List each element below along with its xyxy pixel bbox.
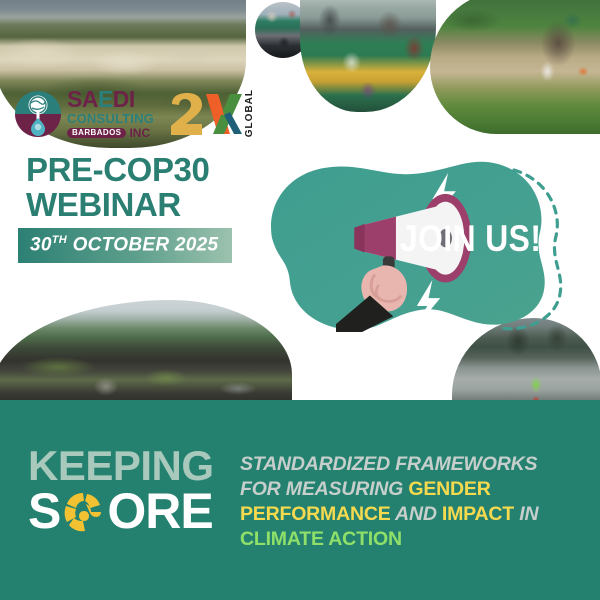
twox-mark-icon [168, 92, 242, 136]
score-letter-s: S [28, 488, 60, 536]
subtitle-plain-1: STANDARDIZED FRAMEWORKS FOR MEASURING [240, 453, 537, 500]
poster-canvas: JOIN US! SAEDI CONSULTING BARBADOS IN [0, 0, 600, 600]
saedi-consulting-label: CONSULTING [67, 112, 154, 125]
workshop-classroom-image [300, 0, 436, 112]
saedi-barbados-badge: BARBADOS [67, 128, 126, 138]
farmer-harvest-image [430, 0, 600, 134]
subtitle-plain-2: AND [391, 503, 442, 525]
volcanic-landscape-image [0, 300, 292, 408]
saedi-wordmark: SAEDI CONSULTING BARBADOS INC [67, 88, 154, 139]
lightning-bolt-icon [414, 280, 440, 330]
subtitle-text: STANDARDIZED FRAMEWORKS FOR MEASURING GE… [240, 452, 580, 552]
date-label: 30TH OCTOBER 2025 [30, 234, 218, 256]
score-pinwheel-c-icon [60, 489, 106, 535]
headline-line-1: PRE-COP30 [26, 152, 209, 187]
join-us-blob: JOIN US! [262, 160, 582, 332]
volcanic-landscape-photo [0, 300, 292, 408]
saedi-globe-droplet-icon [14, 90, 62, 138]
farmer-harvest-photo [430, 0, 600, 134]
page-title: PRE-COP30 WEBINAR [26, 152, 209, 223]
twox-global-label: GLOBAL [244, 89, 255, 137]
subtitle-climate-action: CLIMATE ACTION [240, 528, 402, 550]
keeping-word: KEEPING [28, 446, 214, 486]
saedi-location-row: BARBADOS INC [67, 127, 154, 139]
join-us-label: JOIN US! [400, 218, 541, 260]
workshop-classroom-photo [300, 0, 436, 112]
subtitle-plain-3: IN [514, 503, 538, 525]
bottom-banner: KEEPING S ORE STANDARDIZED FRAMEWORKS FO… [0, 400, 600, 600]
twox-global-logo: GLOBAL [168, 89, 255, 137]
score-word: S ORE [28, 488, 214, 536]
headline-line-2: WEBINAR [26, 187, 209, 222]
saedi-inc-label: INC [129, 127, 150, 139]
subtitle-impact: IMPACT [442, 503, 514, 525]
saedi-consulting-logo: SAEDI CONSULTING BARBADOS INC [14, 88, 154, 139]
saedi-name: SAEDI [67, 88, 154, 111]
keeping-score-lockup: KEEPING S ORE [28, 446, 214, 535]
score-letters-ore: ORE [107, 488, 212, 536]
date-banner: 30TH OCTOBER 2025 [18, 228, 232, 263]
logo-row: SAEDI CONSULTING BARBADOS INC GLOBAL [14, 88, 255, 139]
